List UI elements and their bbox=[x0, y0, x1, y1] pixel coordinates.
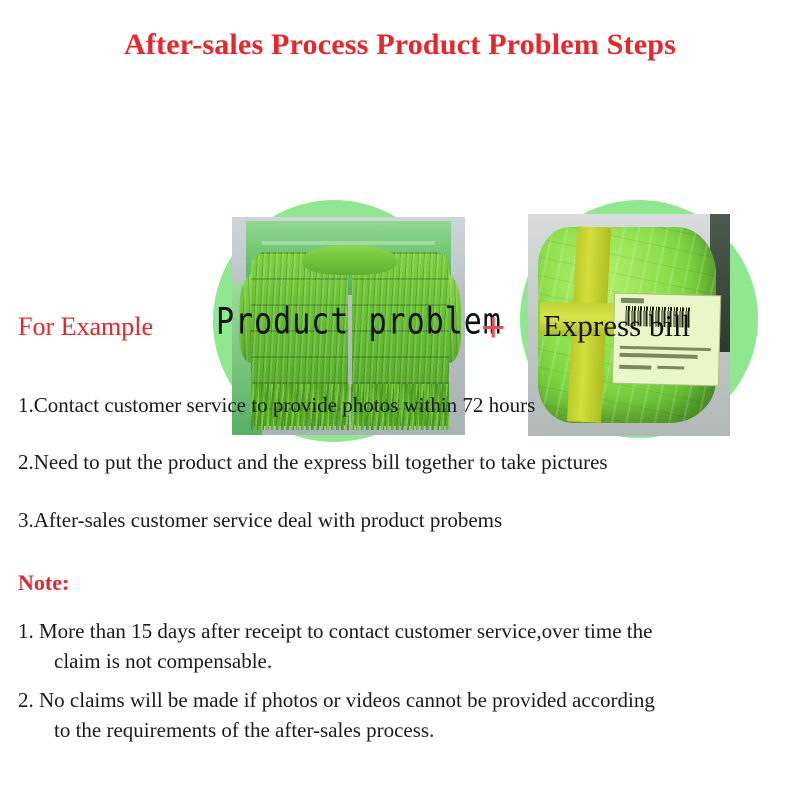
steps-list: 1.Contact customer service to provide ph… bbox=[18, 392, 782, 564]
step-item: 2.Need to put the product and the expres… bbox=[18, 449, 782, 475]
note-item: 1. More than 15 days after receipt to co… bbox=[18, 616, 790, 677]
jacket-collar bbox=[302, 245, 397, 275]
note-list: 1. More than 15 days after receipt to co… bbox=[18, 616, 790, 754]
label-text-line bbox=[619, 365, 651, 369]
note-heading: Note: bbox=[18, 570, 69, 596]
label-text-line bbox=[657, 366, 684, 370]
note-line: 2. No claims will be made if photos or v… bbox=[18, 688, 655, 712]
express-bill-caption: Express bill bbox=[543, 310, 690, 341]
example-row: For Example Product problem + Express bi… bbox=[0, 100, 800, 350]
label-text-line bbox=[621, 298, 644, 303]
label-text-line bbox=[620, 353, 698, 358]
page-title: After-sales Process Product Problem Step… bbox=[0, 28, 800, 62]
note-line: to the requirements of the after-sales p… bbox=[44, 715, 790, 745]
note-item: 2. No claims will be made if photos or v… bbox=[18, 685, 790, 746]
label-text-line bbox=[620, 345, 710, 351]
note-line: claim is not compensable. bbox=[44, 646, 790, 676]
step-item: 1.Contact customer service to provide ph… bbox=[18, 392, 782, 418]
plus-icon: + bbox=[481, 306, 506, 348]
step-item: 3.After-sales customer service deal with… bbox=[18, 507, 782, 533]
for-example-label: For Example bbox=[18, 312, 153, 342]
product-problem-caption: Product problem bbox=[216, 304, 502, 341]
note-line: 1. More than 15 days after receipt to co… bbox=[18, 619, 652, 643]
